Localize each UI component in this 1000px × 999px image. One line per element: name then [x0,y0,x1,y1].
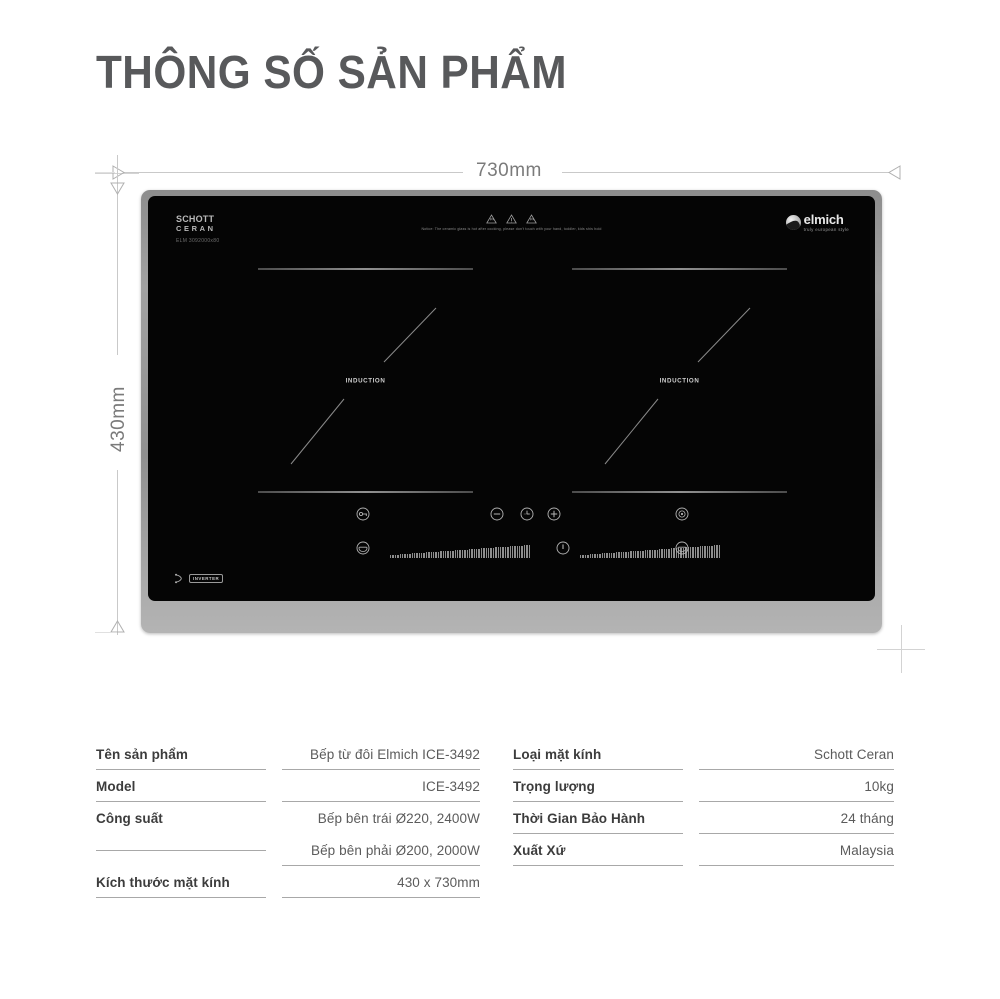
power-button[interactable] [556,541,570,555]
slider-tick [435,552,436,558]
slider-tick [464,550,465,558]
slider-tick [609,553,610,558]
dimension-line-width-left [123,172,463,173]
alignment-rule-bottom [95,632,117,633]
slider-tick [637,551,638,558]
slider-tick [519,546,520,558]
spec-label: Kích thước mặt kính [96,866,266,898]
slider-tick [524,545,525,558]
alignment-rule-top [95,172,115,173]
slider-tick [521,546,522,559]
slider-tick [668,549,669,558]
slider-tick [421,553,422,558]
slider-tick [582,555,583,558]
slider-tick [416,553,417,558]
spec-row: Bếp bên phải Ø200, 2000W [96,834,480,866]
slider-tick [505,547,506,558]
spec-row: Thời Gian Bảo Hành24 tháng [513,802,894,834]
slider-tick [666,549,667,558]
slider-tick [486,548,487,558]
slider-tick [661,549,662,558]
slider-tick [621,552,622,558]
slider-tick [657,550,658,559]
page-title: THÔNG SỐ SẢN PHẨM [96,44,567,100]
warning-icon-group [486,214,537,224]
slider-tick [495,547,496,558]
product-spec-page: THÔNG SỐ SẢN PHẨM 730mm 430mm SCHOTT CER… [0,0,1000,999]
slider-tick [412,553,413,558]
slider-tick [649,550,650,558]
slider-tick [695,547,696,558]
slider-tick [474,549,475,558]
crosshair-bottom-right [877,625,925,673]
slider-tick [481,548,482,558]
hot-surface-warning-icon [486,214,497,224]
spec-label: Công suất [96,802,266,834]
spec-row: Công suấtBếp bên trái Ø220, 2400W [96,802,480,834]
power-slider-left[interactable] [390,545,544,558]
slider-tick [419,553,420,558]
slider-tick [652,550,653,558]
warning-text: Notice: The ceramic glass is hot after c… [421,227,601,232]
slider-tick [642,551,643,559]
slider-tick [457,550,458,558]
spec-value: Bếp bên trái Ø220, 2400W [282,802,480,834]
slider-tick [502,547,503,558]
slider-tick [719,545,720,558]
slider-tick [510,546,511,558]
spec-table-left: Tên sản phẩmBếp từ đôi Elmich ICE-3492Mo… [96,738,480,898]
slider-tick [700,546,701,558]
slider-tick [414,553,415,558]
slider-tick [483,548,484,558]
spec-value: 430 x 730mm [282,866,480,898]
cooktop-glass-surface: SCHOTT CERAN ELM 3092000x80 elmich truly… [148,196,875,601]
slider-tick [409,554,410,558]
slider-tick [428,552,429,558]
slider-tick [438,552,439,558]
slider-tick [616,552,617,558]
slider-tick [711,546,712,559]
slider-tick [714,545,715,558]
induction-cooktop: SCHOTT CERAN ELM 3092000x80 elmich truly… [141,190,882,633]
slider-tick [500,547,501,558]
slider-tick [400,554,401,558]
induction-zone-left: INDUCTION [258,268,473,493]
slider-tick [433,552,434,558]
slider-tick [585,555,586,558]
slider-tick [450,551,451,558]
slider-tick [707,546,708,558]
slider-tick [471,549,472,558]
slider-tick [709,546,710,558]
increase-button-left[interactable] [547,507,561,521]
spec-row: Tên sản phẩmBếp từ đôi Elmich ICE-3492 [96,738,480,770]
slider-tick [469,549,470,558]
slider-tick [635,551,636,558]
slider-tick [476,549,477,558]
slider-tick [671,548,672,558]
spec-value: Bếp từ đôi Elmich ICE-3492 [282,738,480,770]
slider-tick [654,550,655,558]
spec-table-right: Loại mặt kínhSchott CeranTrọng lượng10kg… [513,738,894,866]
slider-tick [690,547,691,558]
glass-model-code: ELM 3092000x80 [176,238,219,244]
child-lock-button-right[interactable] [675,507,689,521]
spec-value: ICE-3492 [282,770,480,802]
slider-tick [640,551,641,558]
inverter-swirl-icon [174,572,187,585]
power-slider-right[interactable] [580,545,734,558]
slider-tick [488,548,489,558]
spec-row: Xuất XứMalaysia [513,834,894,866]
slider-tick [517,546,518,558]
slider-tick [462,550,463,558]
slider-tick [590,554,591,558]
spec-label: Thời Gian Bảo Hành [513,802,683,834]
dimension-label-width: 730mm [476,160,542,182]
slider-tick [664,549,665,558]
general-warning-icon [506,214,517,224]
zone-right-label: INDUCTION [660,377,700,384]
slider-tick [440,551,441,558]
slider-tick [402,554,403,558]
slider-tick [512,546,513,558]
slider-tick [602,553,603,558]
control-panel [148,497,875,585]
slider-tick [452,551,453,559]
slider-tick [526,545,527,558]
spec-value: 10kg [699,770,894,802]
slider-tick [587,555,588,559]
spec-label [96,834,266,851]
slider-tick [455,550,456,558]
slider-tick [594,554,595,558]
slider-tick [390,555,391,558]
pot-button-right[interactable] [675,541,689,555]
slider-tick [692,547,693,558]
spec-label: Loại mặt kính [513,738,683,770]
spec-label: Xuất Xứ [513,834,683,866]
slider-tick [647,550,648,558]
slider-tick [478,549,479,558]
slider-tick [613,553,614,558]
slider-tick [716,545,717,558]
slider-tick [445,551,446,558]
zone-left-label: INDUCTION [346,377,386,384]
pot-button-left[interactable] [356,541,370,555]
slider-tick [628,552,629,558]
warning-block: Notice: The ceramic glass is hot after c… [148,214,875,232]
slider-tick [443,551,444,558]
decrease-button[interactable] [490,507,504,521]
slider-tick [625,552,626,558]
spec-row: Kích thước mặt kính430 x 730mm [96,866,480,898]
slider-tick [490,548,491,558]
slider-tick [645,550,646,558]
spec-label: Trọng lượng [513,770,683,802]
spec-row: Trọng lượng10kg [513,770,894,802]
slider-tick [397,555,398,559]
spec-row: ModelICE-3492 [96,770,480,802]
spec-value: Schott Ceran [699,738,894,770]
slider-tick [514,546,515,558]
induction-zone-right: INDUCTION [572,268,787,493]
inverter-badge: INVERTER [174,572,223,585]
slider-tick [498,547,499,558]
child-lock-button-left[interactable] [356,507,370,521]
slider-tick [426,552,427,558]
dimension-line-width-right [562,172,889,173]
slider-tick [599,554,600,558]
slider-tick [659,549,660,558]
slider-tick [611,553,612,558]
slider-tick [592,554,593,558]
slider-tick [459,550,460,558]
slider-tick [392,555,393,558]
dimension-line-height-bottom [117,470,118,635]
spec-value: Malaysia [699,834,894,866]
slider-tick [580,555,581,558]
slider-tick [467,550,468,559]
slider-tick [404,554,405,558]
inverter-label: INVERTER [189,574,223,583]
slider-tick [529,545,530,558]
spec-label: Tên sản phẩm [96,738,266,770]
slider-tick [423,553,424,558]
slider-tick [630,551,631,558]
spec-value: 24 tháng [699,802,894,834]
slider-tick [447,551,448,558]
slider-tick [618,552,619,558]
slider-tick [493,548,494,558]
slider-tick [623,552,624,558]
slider-tick [704,546,705,558]
slider-tick [597,554,598,558]
slider-tick [395,555,396,558]
slider-tick [702,546,703,558]
slider-tick [407,554,408,558]
dimension-label-height: 430mm [108,386,130,452]
slider-tick [633,551,634,558]
slider-tick [606,553,607,558]
spec-label: Model [96,770,266,802]
slider-tick [507,547,508,558]
slider-tick [604,553,605,558]
slider-tick [431,552,432,558]
slider-tick [697,547,698,558]
timer-button[interactable] [520,507,534,521]
hot-surface-warning-icon-2 [526,214,537,224]
spec-value: Bếp bên phải Ø200, 2000W [282,834,480,866]
spec-row: Loại mặt kínhSchott Ceran [513,738,894,770]
